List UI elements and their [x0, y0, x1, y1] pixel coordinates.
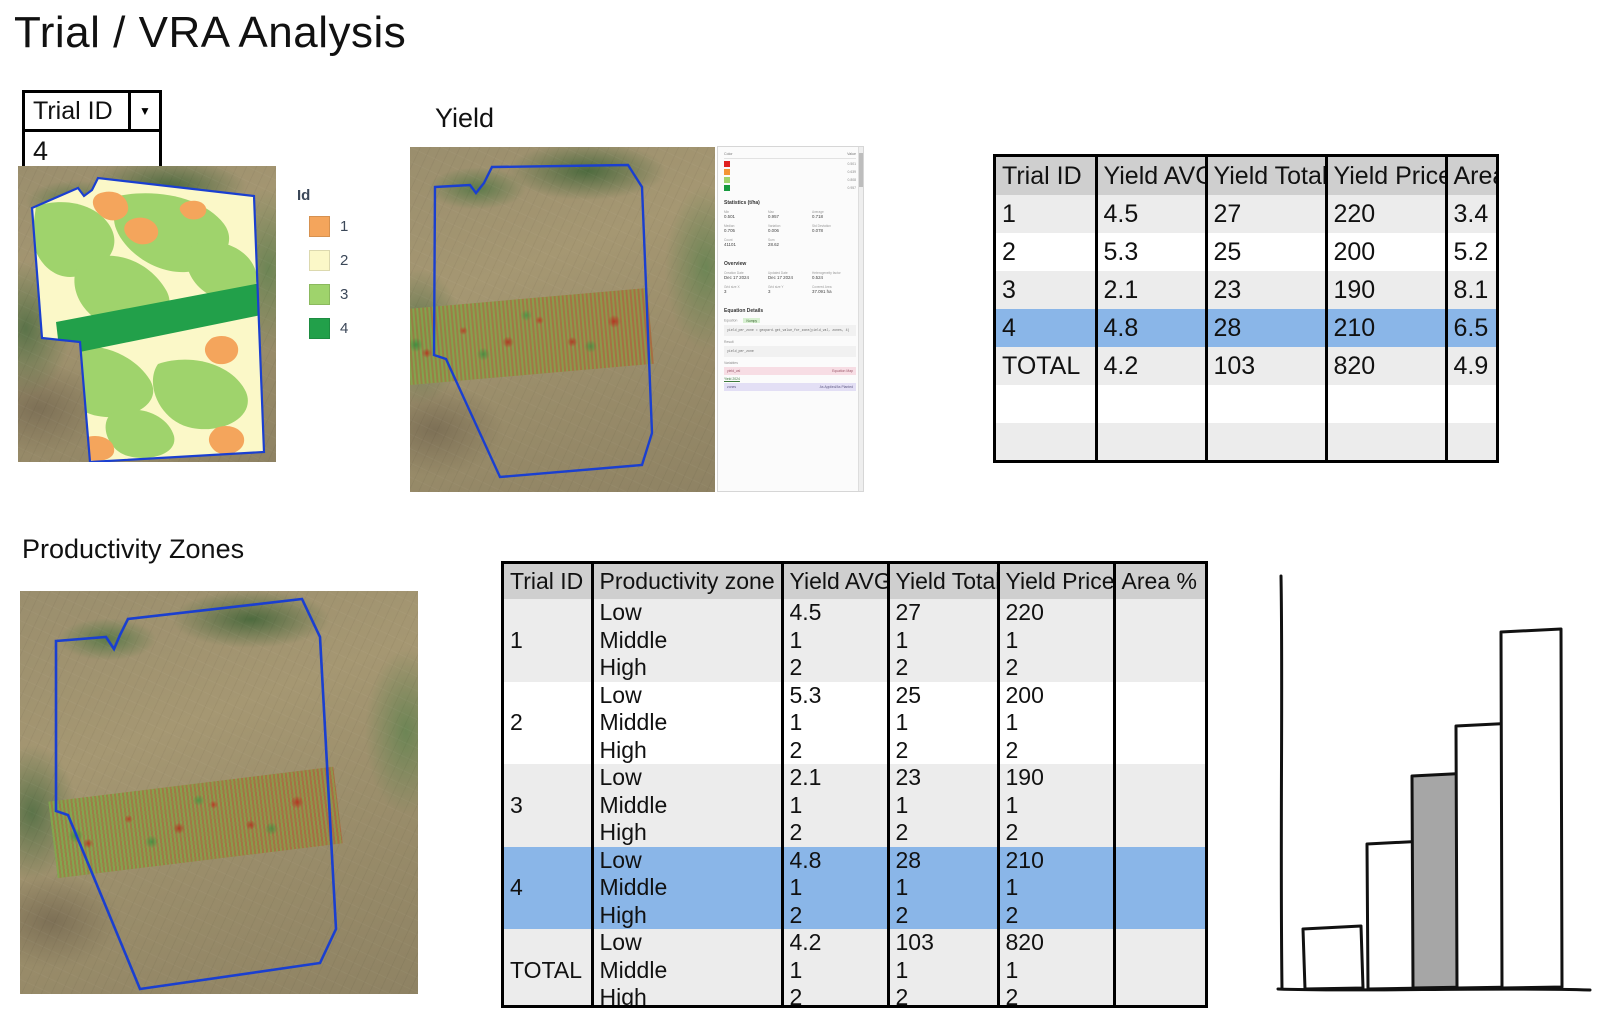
cell-zone: High [592, 902, 782, 930]
cell-yield-total: 1 [888, 874, 998, 902]
variable-link-yield-2024[interactable]: Yield 2024 [724, 377, 856, 381]
stat-item: Min 0.501 [724, 210, 768, 219]
cell-zone: Low [592, 847, 782, 875]
cell-area-pct [1114, 599, 1208, 627]
stat-item-empty [812, 238, 856, 247]
cell-area-pct [1114, 737, 1208, 765]
col-productivity-zone[interactable]: Productivity zone [592, 564, 782, 599]
color-legend-row: 0.501 [724, 161, 856, 167]
trial-id-selector[interactable]: Trial ID ▼ 4 [22, 90, 162, 174]
col-area-pct[interactable]: Area % [1114, 564, 1208, 599]
cell-trial-id: 4 [504, 847, 592, 930]
color-legend-row: 0.639 [724, 169, 856, 175]
stat-value: 28.62 [768, 242, 812, 247]
variable-row-yield-val[interactable]: yield_val Equation Map [724, 367, 856, 375]
table-header-row: Trial ID Productivity zone Yield AVG Yie… [504, 564, 1208, 599]
cell-trial-id: 4 [996, 309, 1096, 347]
cell-yield-avg: 5.3 [1096, 233, 1206, 271]
field-boundary-outline [410, 147, 715, 492]
color-value: 0.639 [848, 170, 857, 174]
cell-area: 3.4 [1446, 195, 1499, 233]
stat-item: Count 41101 [724, 238, 768, 247]
table-row[interactable]: Middle 1 1 1 [504, 627, 1208, 655]
trial-id-dropdown-label: Trial ID [25, 93, 128, 129]
cell-zone: Low [592, 929, 782, 957]
cell-area: 4.9 [1446, 347, 1499, 385]
cell-empty [1326, 385, 1446, 423]
statistics-title: Statistics (t/ha) [724, 200, 856, 206]
col-yield-price[interactable]: Yield Price [1326, 157, 1446, 195]
cell-yield-price: 1 [998, 792, 1114, 820]
legend-item: 4 [309, 318, 348, 339]
cell-yield-total: 28 [888, 847, 998, 875]
cell-yield-avg: 1 [782, 627, 888, 655]
col-yield-total[interactable]: Yield Total [1206, 157, 1326, 195]
overview-title: Overview [724, 261, 856, 267]
cell-zone: High [592, 984, 782, 1008]
table-row[interactable]: 2 5.3 25 200 5.2 [996, 233, 1499, 271]
cell-area-pct [1114, 682, 1208, 710]
cell-yield-price: 220 [1326, 195, 1446, 233]
cell-area: 6.5 [1446, 309, 1499, 347]
cell-yield-price: 1 [998, 627, 1114, 655]
stat-item: Median 0.705 [724, 224, 768, 233]
overview-item: Heterogeneity factor 0.524 [812, 271, 856, 280]
cell-yield-price: 1 [998, 874, 1114, 902]
cell-yield-total: 1 [888, 792, 998, 820]
zones-legend: Id 1 2 3 4 [297, 187, 348, 352]
cell-empty [996, 385, 1096, 423]
bar-chart-svg [1262, 556, 1592, 1008]
productivity-zones-map[interactable] [20, 591, 418, 994]
table-row[interactable]: High 2 2 2 [504, 737, 1208, 765]
cell-yield-total: 27 [888, 599, 998, 627]
cell-yield-price: 190 [1326, 271, 1446, 309]
cell-empty [1326, 423, 1446, 461]
legend-color-swatch [309, 318, 330, 339]
productivity-zone-detail-table[interactable]: Trial ID Productivity zone Yield AVG Yie… [501, 561, 1208, 1008]
table-row[interactable]: 2 Low 5.3 25 200 [504, 682, 1208, 710]
stat-item: Average 0.718 [812, 210, 856, 219]
cell-yield-total: 1 [888, 627, 998, 655]
cell-yield-total: 2 [888, 737, 998, 765]
overview-value: 0.524 [812, 275, 856, 280]
cell-zone: Middle [592, 957, 782, 985]
cell-area: 5.2 [1446, 233, 1499, 271]
cell-yield-total: 25 [1206, 233, 1326, 271]
yield-bar-chart[interactable] [1262, 556, 1592, 1008]
cell-empty [996, 423, 1096, 461]
stat-value: 0.078 [812, 228, 856, 233]
overview-item: Covered Area 37.091 ha [812, 285, 856, 294]
variable-name: zones [727, 385, 736, 389]
color-value: 0.501 [848, 162, 857, 166]
table-row-selected[interactable]: 4 Low 4.8 28 210 [504, 847, 1208, 875]
cell-yield-price: 210 [998, 847, 1114, 875]
cell-empty [1446, 385, 1499, 423]
cell-yield-avg: 2 [782, 984, 888, 1008]
table-row-selected[interactable]: Middle 1 1 1 [504, 874, 1208, 902]
table-row[interactable]: 1 Low 4.5 27 220 [504, 599, 1208, 627]
table-row-total[interactable]: Middle 1 1 1 [504, 957, 1208, 985]
cell-yield-price: 210 [1326, 309, 1446, 347]
stat-item: Sum 28.62 [768, 238, 812, 247]
cell-zone: Middle [592, 792, 782, 820]
cell-yield-price: 2 [998, 819, 1114, 847]
yield-summary-table[interactable]: Trial ID Yield AVG Yield Total Yield Pri… [993, 154, 1499, 463]
cell-empty [1096, 423, 1206, 461]
cell-yield-avg: 4.8 [1096, 309, 1206, 347]
color-swatch [724, 161, 730, 167]
cell-area-pct [1114, 984, 1208, 1008]
cell-trial-id: TOTAL [996, 347, 1096, 385]
cell-yield-total: 103 [1206, 347, 1326, 385]
cell-yield-avg: 1 [782, 792, 888, 820]
table-row-total[interactable]: TOTAL 4.2 103 820 4.9 [996, 347, 1499, 385]
cell-yield-total: 103 [888, 929, 998, 957]
cell-area-pct [1114, 709, 1208, 737]
stat-item: Std Deviation 0.078 [812, 224, 856, 233]
table-row-empty [996, 385, 1499, 423]
table-row-total[interactable]: High 2 2 2 [504, 984, 1208, 1008]
cell-yield-price: 200 [998, 682, 1114, 710]
overview-value: Dec 17 2024 [768, 275, 812, 280]
cell-yield-price: 220 [998, 599, 1114, 627]
cell-yield-total: 2 [888, 984, 998, 1008]
variable-row-zones[interactable]: zones As Applied/As Planted [724, 383, 856, 391]
overview-value: Dec 17 2024 [724, 275, 768, 280]
cell-area-pct [1114, 792, 1208, 820]
cell-zone: Middle [592, 709, 782, 737]
value-column-header: Value [847, 152, 856, 156]
col-trial-id[interactable]: Trial ID [996, 157, 1096, 195]
result-label: Result [724, 340, 856, 344]
cell-zone: High [592, 654, 782, 682]
yield-map[interactable] [410, 147, 715, 492]
cell-yield-avg: 2 [782, 737, 888, 765]
legend-color-swatch [309, 216, 330, 237]
cell-yield-avg: 4.5 [782, 599, 888, 627]
col-yield-avg[interactable]: Yield AVG [782, 564, 888, 599]
table-header-row: Trial ID Yield AVG Yield Total Yield Pri… [996, 157, 1499, 195]
color-swatch [724, 185, 730, 191]
cell-yield-price: 820 [1326, 347, 1446, 385]
cell-yield-price: 2 [998, 737, 1114, 765]
table-row[interactable]: 3 Low 2.1 23 190 [504, 764, 1208, 792]
color-column-header: Color [724, 152, 733, 156]
cell-zone: Low [592, 682, 782, 710]
stat-value: 0.718 [812, 214, 856, 219]
table-row-selected[interactable]: High 2 2 2 [504, 902, 1208, 930]
cell-empty [1096, 385, 1206, 423]
stat-item: Variation 0.006 [768, 224, 812, 233]
cell-area-pct [1114, 764, 1208, 792]
col-area[interactable]: Area [1446, 157, 1499, 195]
cell-empty [1446, 423, 1499, 461]
variable-source: As Applied/As Planted [820, 385, 853, 389]
cell-area: 8.1 [1446, 271, 1499, 309]
cell-trial-id: 3 [996, 271, 1096, 309]
cell-yield-avg: 5.3 [782, 682, 888, 710]
cell-yield-total: 1 [888, 709, 998, 737]
chart-bar-1[interactable] [1303, 926, 1363, 989]
chevron-down-icon[interactable]: ▼ [128, 93, 159, 129]
table-row[interactable]: 1 4.5 27 220 3.4 [996, 195, 1499, 233]
cell-yield-price: 190 [998, 764, 1114, 792]
trial-id-dropdown[interactable]: Trial ID ▼ [22, 90, 162, 132]
cell-yield-total: 28 [1206, 309, 1326, 347]
cell-zone: High [592, 819, 782, 847]
page-title: Trial / VRA Analysis [14, 8, 406, 58]
table-row[interactable]: 3 2.1 23 190 8.1 [996, 271, 1499, 309]
variable-name: yield_val [727, 369, 740, 373]
legend-item: 1 [309, 216, 348, 237]
col-yield-price[interactable]: Yield Price [998, 564, 1114, 599]
cell-yield-total: 25 [888, 682, 998, 710]
table-row-selected[interactable]: 4 4.8 28 210 6.5 [996, 309, 1499, 347]
cell-empty [1206, 385, 1326, 423]
yield-info-panel[interactable]: Color Value 0.501 0.639 0.808 0.957 Stat… [717, 146, 864, 492]
equation-label: Equation [724, 319, 737, 323]
cell-yield-avg: 1 [782, 709, 888, 737]
overview-value: 37.091 ha [812, 289, 856, 294]
cell-zone: Middle [592, 627, 782, 655]
cell-yield-avg: 2 [782, 819, 888, 847]
cell-yield-total: 1 [888, 957, 998, 985]
cell-trial-id: 3 [504, 764, 592, 847]
cell-area-pct [1114, 874, 1208, 902]
table-row[interactable]: Middle 1 1 1 [504, 792, 1208, 820]
cell-zone: High [592, 737, 782, 765]
stat-item: Max 0.957 [768, 210, 812, 219]
cell-yield-total: 23 [1206, 271, 1326, 309]
chart-y-axis [1281, 576, 1282, 989]
legend-item-label: 4 [340, 320, 348, 337]
cell-yield-price: 200 [1326, 233, 1446, 271]
legend-item: 2 [309, 250, 348, 271]
overview-item: Grid size X 3 [724, 285, 768, 294]
chart-bar-5[interactable] [1501, 629, 1562, 988]
cell-yield-price: 820 [998, 929, 1114, 957]
equation-label-row: Equation Numpy [724, 318, 856, 323]
cell-yield-price: 2 [998, 654, 1114, 682]
panel-scrollbar[interactable] [858, 147, 863, 491]
cell-yield-avg: 2 [782, 654, 888, 682]
equation-details-title: Equation Details [724, 308, 856, 314]
cell-yield-avg: 2.1 [1096, 271, 1206, 309]
cell-yield-avg: 4.5 [1096, 195, 1206, 233]
productivity-zones-classified-map[interactable] [18, 166, 276, 462]
cell-area-pct [1114, 654, 1208, 682]
table-row-total[interactable]: TOTAL Low 4.2 103 820 [504, 929, 1208, 957]
overview-item: Updated Date Dec 17 2024 [768, 271, 812, 280]
table-row[interactable]: Middle 1 1 1 [504, 709, 1208, 737]
cell-trial-id: 2 [504, 682, 592, 765]
cell-yield-avg: 4.2 [1096, 347, 1206, 385]
overview-item: Grid size Y 3 [768, 285, 812, 294]
color-value: 0.957 [848, 186, 857, 190]
variables-label: Variables [724, 361, 856, 365]
cell-yield-avg: 1 [782, 957, 888, 985]
cell-zone: Middle [592, 874, 782, 902]
color-value: 0.808 [848, 178, 857, 182]
cell-yield-price: 2 [998, 902, 1114, 930]
cell-area-pct [1114, 902, 1208, 930]
cell-trial-id: 1 [996, 195, 1096, 233]
table-row[interactable]: High 2 2 2 [504, 654, 1208, 682]
legend-color-swatch [309, 250, 330, 271]
cell-yield-avg: 2 [782, 902, 888, 930]
equation-engine-badge: Numpy [743, 318, 760, 323]
equation-code: yield_per_zone = geopard.get_value_for_z… [724, 325, 856, 336]
cell-yield-price: 1 [998, 709, 1114, 737]
cell-yield-avg: 4.2 [782, 929, 888, 957]
cell-yield-total: 2 [888, 902, 998, 930]
stat-value: 0.006 [768, 228, 812, 233]
overview-value: 3 [768, 289, 812, 294]
color-swatch [724, 177, 730, 183]
cell-trial-id: 2 [996, 233, 1096, 271]
productivity-zones-section-heading: Productivity Zones [22, 534, 244, 565]
cell-yield-total: 2 [888, 819, 998, 847]
cell-yield-price: 2 [998, 984, 1114, 1008]
legend-item: 3 [309, 284, 348, 305]
overview-value: 3 [724, 289, 768, 294]
cell-yield-total: 23 [888, 764, 998, 792]
overview-item: Creation Date Dec 17 2024 [724, 271, 768, 280]
cell-zone: Low [592, 764, 782, 792]
cell-area-pct [1114, 819, 1208, 847]
cell-area-pct [1114, 847, 1208, 875]
variable-source: Equation Map [832, 369, 853, 373]
cell-zone: Low [592, 599, 782, 627]
color-swatch [724, 169, 730, 175]
cell-area-pct [1114, 929, 1208, 957]
stat-value: 0.705 [724, 228, 768, 233]
zone-classification-overlay [18, 166, 276, 462]
stat-value: 41101 [724, 242, 768, 247]
legend-color-swatch [309, 284, 330, 305]
result-value: yield_per_zone [724, 346, 856, 357]
legend-item-label: 2 [340, 252, 348, 269]
cell-yield-avg: 1 [782, 874, 888, 902]
field-boundary-outline [20, 591, 418, 994]
cell-yield-avg: 4.8 [782, 847, 888, 875]
stat-value: 0.957 [768, 214, 812, 219]
cell-trial-id: 1 [504, 599, 592, 682]
col-trial-id[interactable]: Trial ID [504, 564, 592, 599]
color-legend-row: 0.808 [724, 177, 856, 183]
zones-legend-title: Id [297, 187, 348, 204]
color-value-header: Color Value [724, 152, 856, 159]
col-yield-avg[interactable]: Yield AVG [1096, 157, 1206, 195]
table-row-empty [996, 423, 1499, 461]
cell-yield-price: 1 [998, 957, 1114, 985]
col-yield-total[interactable]: Yield Total [888, 564, 998, 599]
cell-yield-avg: 2.1 [782, 764, 888, 792]
cell-empty [1206, 423, 1326, 461]
cell-yield-total: 27 [1206, 195, 1326, 233]
color-legend-row: 0.957 [724, 185, 856, 191]
cell-trial-id: TOTAL [504, 929, 592, 1008]
table-row[interactable]: High 2 2 2 [504, 819, 1208, 847]
cell-yield-total: 2 [888, 654, 998, 682]
stat-value: 0.501 [724, 214, 768, 219]
cell-area-pct [1114, 627, 1208, 655]
legend-item-label: 3 [340, 286, 348, 303]
cell-area-pct [1114, 957, 1208, 985]
legend-item-label: 1 [340, 218, 348, 235]
yield-section-heading: Yield [435, 103, 494, 134]
